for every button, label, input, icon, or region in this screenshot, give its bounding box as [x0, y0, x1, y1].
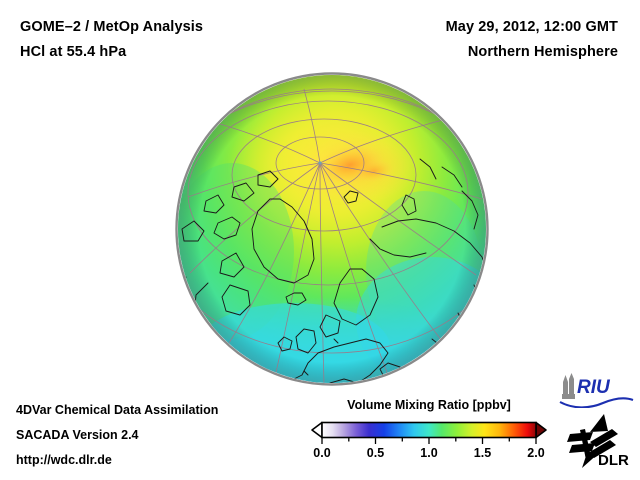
colorbar-tick-0: 0.0 — [313, 446, 330, 460]
colorbar-gradient — [322, 423, 536, 438]
footer-url[interactable]: http://wdc.dlr.de — [16, 453, 112, 467]
header-datetime: May 29, 2012, 12:00 GMT — [446, 19, 618, 35]
riu-spires-icon — [562, 373, 575, 399]
header-region: Northern Hemisphere — [468, 44, 618, 60]
colorbar-tick-3: 1.5 — [474, 446, 491, 460]
colorbar-tick-labels: 0.0 0.5 1.0 1.5 2.0 — [306, 446, 552, 466]
riu-wordmark: RIU — [577, 377, 611, 398]
colorbar-extend-right — [536, 423, 546, 438]
dlr-wordmark: DLR — [598, 452, 629, 469]
dlr-logo: DLR — [560, 412, 636, 470]
colorbar: Volume Mixing Ratio [ppbv] — [306, 398, 552, 474]
colorbar-title: Volume Mixing Ratio [ppbv] — [306, 398, 552, 412]
footer-version: SACADA Version 2.4 — [16, 428, 139, 442]
riu-logo-svg: RIU — [557, 372, 635, 408]
dlr-logo-svg: DLR — [560, 412, 636, 470]
header-title-species: HCl at 55.4 hPa — [20, 44, 126, 60]
header-title-instrument: GOME–2 / MetOp Analysis — [20, 19, 203, 35]
colorbar-ticks — [322, 438, 536, 445]
globe-map — [174, 71, 490, 387]
colorbar-tick-1: 0.5 — [367, 446, 384, 460]
north-pole-marker — [318, 161, 321, 164]
colorbar-scale — [306, 420, 552, 446]
riu-logo: RIU — [557, 372, 635, 408]
globe-svg — [174, 71, 490, 387]
colorbar-extend-left — [312, 423, 322, 438]
figure-canvas: GOME–2 / MetOp Analysis HCl at 55.4 hPa … — [0, 0, 640, 480]
colorbar-tick-2: 1.0 — [420, 446, 437, 460]
colorbar-tick-4: 2.0 — [527, 446, 544, 460]
footer-method: 4DVar Chemical Data Assimilation — [16, 403, 218, 417]
riu-wave-icon — [560, 398, 633, 407]
